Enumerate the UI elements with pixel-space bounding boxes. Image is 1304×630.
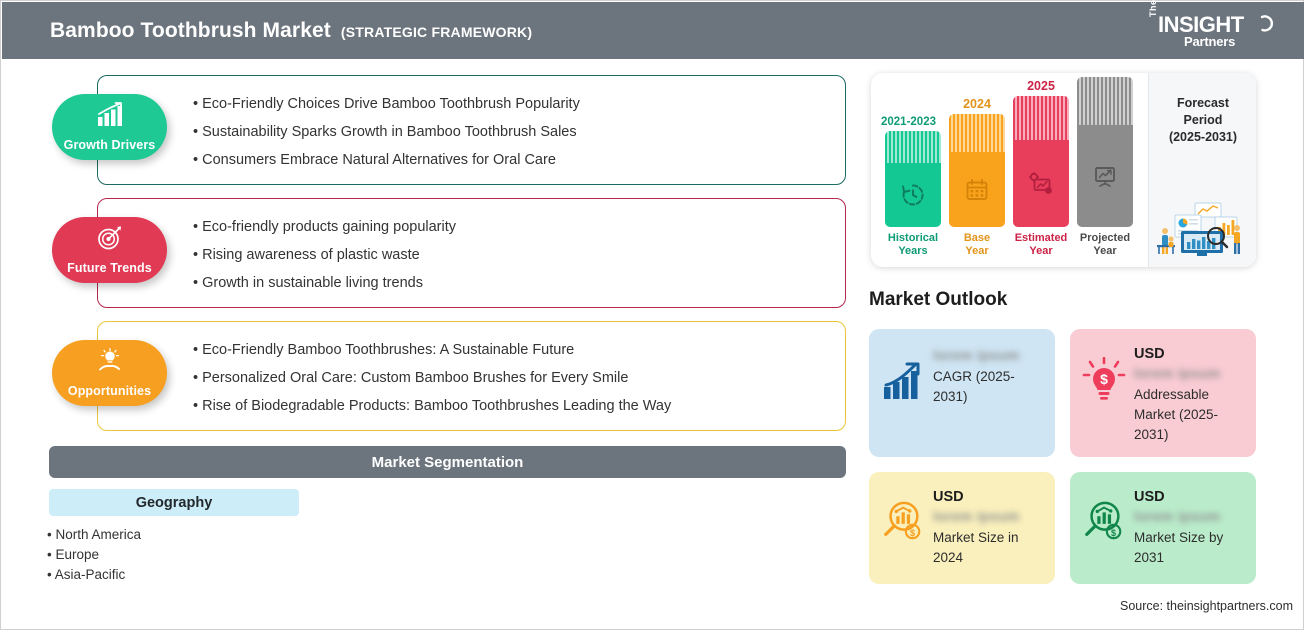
list-item: Personalized Oral Care: Custom Bamboo Br… [193,364,671,392]
outlook-value: lorem ipsum [1134,506,1244,526]
badge-label: Future Trends [67,261,152,283]
list-item: Europe [47,545,141,565]
badge-growth-drivers[interactable]: Growth Drivers [52,94,167,160]
right-column: 2021-2023 HistoricalYears [861,59,1304,630]
list-item: Rise of Biodegradable Products: Bamboo T… [193,392,671,420]
badge-opportunities[interactable]: Opportunities [52,340,167,406]
outlook-value: lorem ipsum [933,506,1043,526]
timeline-label: BaseYear [949,232,1005,258]
timeline-label: EstimatedYear [1013,232,1069,258]
forecast-period-panel: Forecast Period (2025-2031) [1148,73,1256,267]
list-item: Eco-Friendly Bamboo Toothbrushes: A Sust… [193,336,671,364]
timeline-year: 2025 [1013,79,1069,93]
outlook-currency: USD [933,488,1043,506]
insight-partners-logo: The INSIGHT Partners [1146,11,1276,53]
list-item: Eco-Friendly Choices Drive Bamboo Toothb… [193,90,580,118]
list-item: Eco-friendly products gaining popularity [193,213,456,241]
bar-chart-arrow-icon [96,102,124,128]
outlook-value: lorem ipsum [933,345,1043,365]
growth-drivers-bullets: Eco-Friendly Choices Drive Bamboo Toothb… [98,76,580,174]
outlook-card-addressable-market[interactable]: $ USD lorem ipsum Addressable Market (20… [1070,329,1256,457]
panel-growth-drivers: Eco-Friendly Choices Drive Bamboo Toothb… [97,75,846,185]
badge-label: Opportunities [68,384,151,406]
list-item: Consumers Embrace Natural Alternatives f… [193,146,580,174]
outlook-card-market-size-2024[interactable]: $ USD lorem ipsum Market Size in 2024 [869,472,1055,584]
outlook-card-market-size-2031[interactable]: $ USD lorem ipsum Market Size by 2031 [1070,472,1256,584]
infographic-page: Bamboo Toothbrush Market (STRATEGIC FRAM… [0,0,1304,630]
calendar-icon [964,177,990,203]
arc-circle-icon [1254,13,1276,35]
opportunities-bullets: Eco-Friendly Bamboo Toothbrushes: A Sust… [98,322,671,420]
timeline-year: 2024 [949,97,1005,111]
outlook-value: lorem ipsum [1134,363,1244,383]
timeline-label: HistoricalYears [885,232,941,258]
panel-future-trends: Eco-friendly products gaining popularity… [97,198,846,308]
page-title: Bamboo Toothbrush Market [50,19,331,43]
timeline-column-estimated: 2025 [1013,79,1069,258]
badge-future-trends[interactable]: Future Trends [52,217,167,283]
timeline-bars: 2021-2023 HistoricalYears [871,73,1148,267]
outlook-label: Market Size in 2024 [933,528,1043,568]
source-attribution: Source: theinsightpartners.com [1120,599,1293,613]
svg-text:$: $ [1100,371,1108,387]
target-dart-icon [96,225,124,251]
bar-chart-arrow-icon [881,357,925,407]
lightbulb-hand-icon [96,348,124,374]
page-header: Bamboo Toothbrush Market (STRATEGIC FRAM… [2,2,1304,59]
list-item: Asia-Pacific [47,565,141,585]
header-title-group: Bamboo Toothbrush Market (STRATEGIC FRAM… [2,19,532,43]
outlook-label: Market Size by 2031 [1134,528,1244,568]
timeline-column-base: 2024 [949,97,1005,258]
geography-list: North America Europe Asia-Pacific [47,525,141,585]
panel-opportunities: Eco-Friendly Bamboo Toothbrushes: A Sust… [97,321,846,431]
list-item: Rising awareness of plastic waste [193,241,456,269]
outlook-currency: USD [1134,488,1244,506]
timeline-column-projected: 2031 ProjectedYear [1077,73,1133,258]
list-item: Sustainability Sparks Growth in Bamboo T… [193,118,580,146]
svg-text:$: $ [910,528,915,538]
timeline-year: 2021-2023 [876,116,941,128]
page-subtitle: (STRATEGIC FRAMEWORK) [341,24,532,40]
outlook-currency: USD [1134,345,1244,363]
badge-label: Growth Drivers [64,138,156,160]
logo-partners-text: Partners [1184,34,1235,49]
market-segmentation-header: Market Segmentation [49,446,846,478]
logo-the-text: The [1148,0,1158,17]
timeline-year: 2031 [1077,73,1133,74]
list-item: Growth in sustainable living trends [193,269,456,297]
segmentation-chip-geography[interactable]: Geography [49,489,299,516]
lightbulb-dollar-icon: $ [1082,357,1126,407]
market-segmentation-title: Market Segmentation [372,454,524,471]
presentation-screen-icon [1092,163,1118,189]
magnifier-bar-dollar-icon: $ [881,496,925,546]
clock-history-icon [900,182,926,208]
list-item: North America [47,525,141,545]
outlook-card-cagr[interactable]: lorem ipsum CAGR (2025-2031) [869,329,1055,457]
timeline-label: ProjectedYear [1077,232,1133,258]
forecast-period-text: Forecast Period (2025-2031) [1169,95,1237,146]
business-analytics-illustration [1153,195,1253,257]
segmentation-chip-label: Geography [136,495,213,511]
market-outlook-title: Market Outlook [869,289,1007,311]
timeline-column-historical: 2021-2023 HistoricalYears [885,116,941,258]
svg-text:$: $ [1111,528,1116,538]
estimate-gear-chart-icon [1028,171,1054,197]
outlook-label: CAGR (2025-2031) [933,367,1043,407]
outlook-label: Addressable Market (2025-2031) [1134,385,1244,445]
forecast-timeline-card: 2021-2023 HistoricalYears [871,73,1256,267]
magnifier-bar-dollar-icon: $ [1082,496,1126,546]
left-column: Eco-Friendly Choices Drive Bamboo Toothb… [1,59,861,630]
